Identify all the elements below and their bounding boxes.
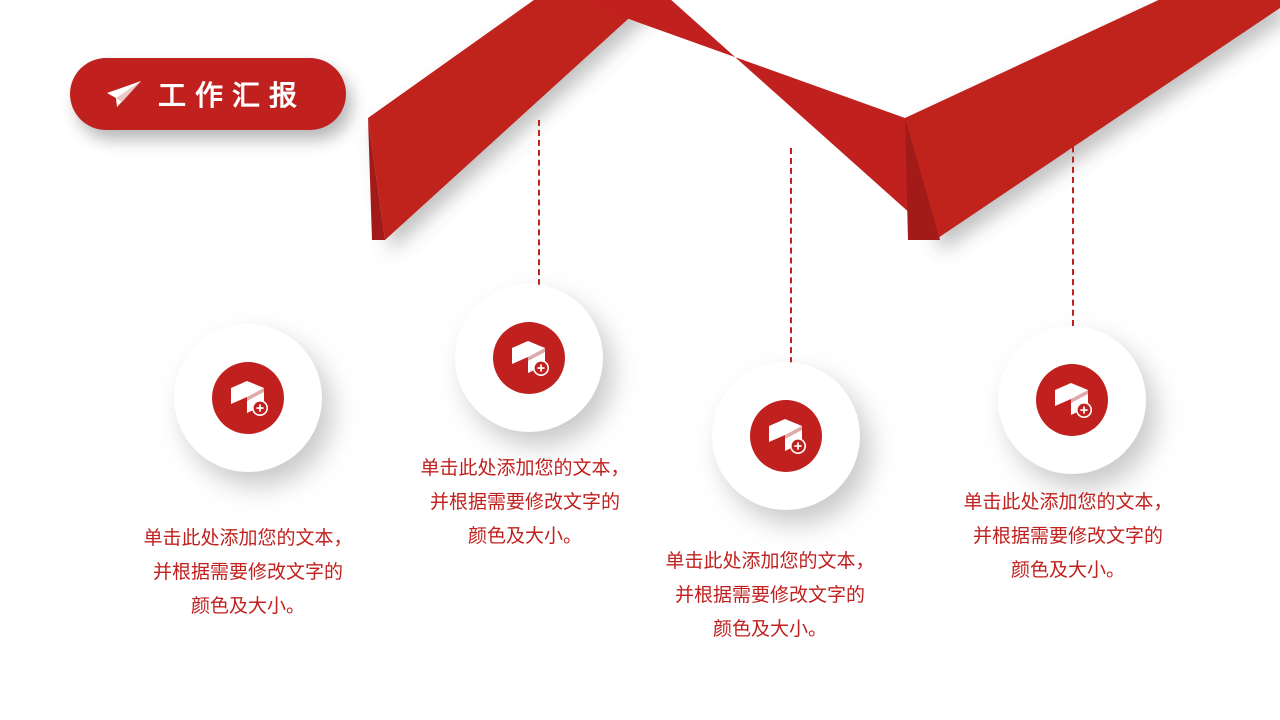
connector-line-3 <box>790 148 792 383</box>
connector-line-2 <box>538 120 540 305</box>
node-4[interactable] <box>998 326 1146 474</box>
page-title: 工作汇报 <box>158 74 306 114</box>
zigzag-ribbon <box>0 0 1280 270</box>
node-1[interactable] <box>174 324 322 472</box>
node-1-caption: 单击此处添加您的文本， 并根据需要修改文字的 颜色及大小。 <box>118 522 378 624</box>
box-add-icon <box>493 322 565 394</box>
box-add-icon <box>750 400 822 472</box>
slide-title-pill: 工作汇报 <box>70 58 346 130</box>
paper-plane-icon <box>104 77 144 111</box>
box-add-icon <box>212 362 284 434</box>
box-add-icon <box>1036 364 1108 436</box>
node-2-caption: 单击此处添加您的文本， 并根据需要修改文字的 颜色及大小。 <box>395 452 655 554</box>
node-2[interactable] <box>455 284 603 432</box>
node-3[interactable] <box>712 362 860 510</box>
node-4-caption: 单击此处添加您的文本， 并根据需要修改文字的 颜色及大小。 <box>938 486 1198 588</box>
connector-line-4 <box>1072 126 1074 326</box>
slide-canvas: 工作汇报 单击此处添加您的文本， 并根据需要修改文字的 颜色及大小。 <box>0 0 1280 720</box>
node-3-caption: 单击此处添加您的文本， 并根据需要修改文字的 颜色及大小。 <box>640 545 900 647</box>
